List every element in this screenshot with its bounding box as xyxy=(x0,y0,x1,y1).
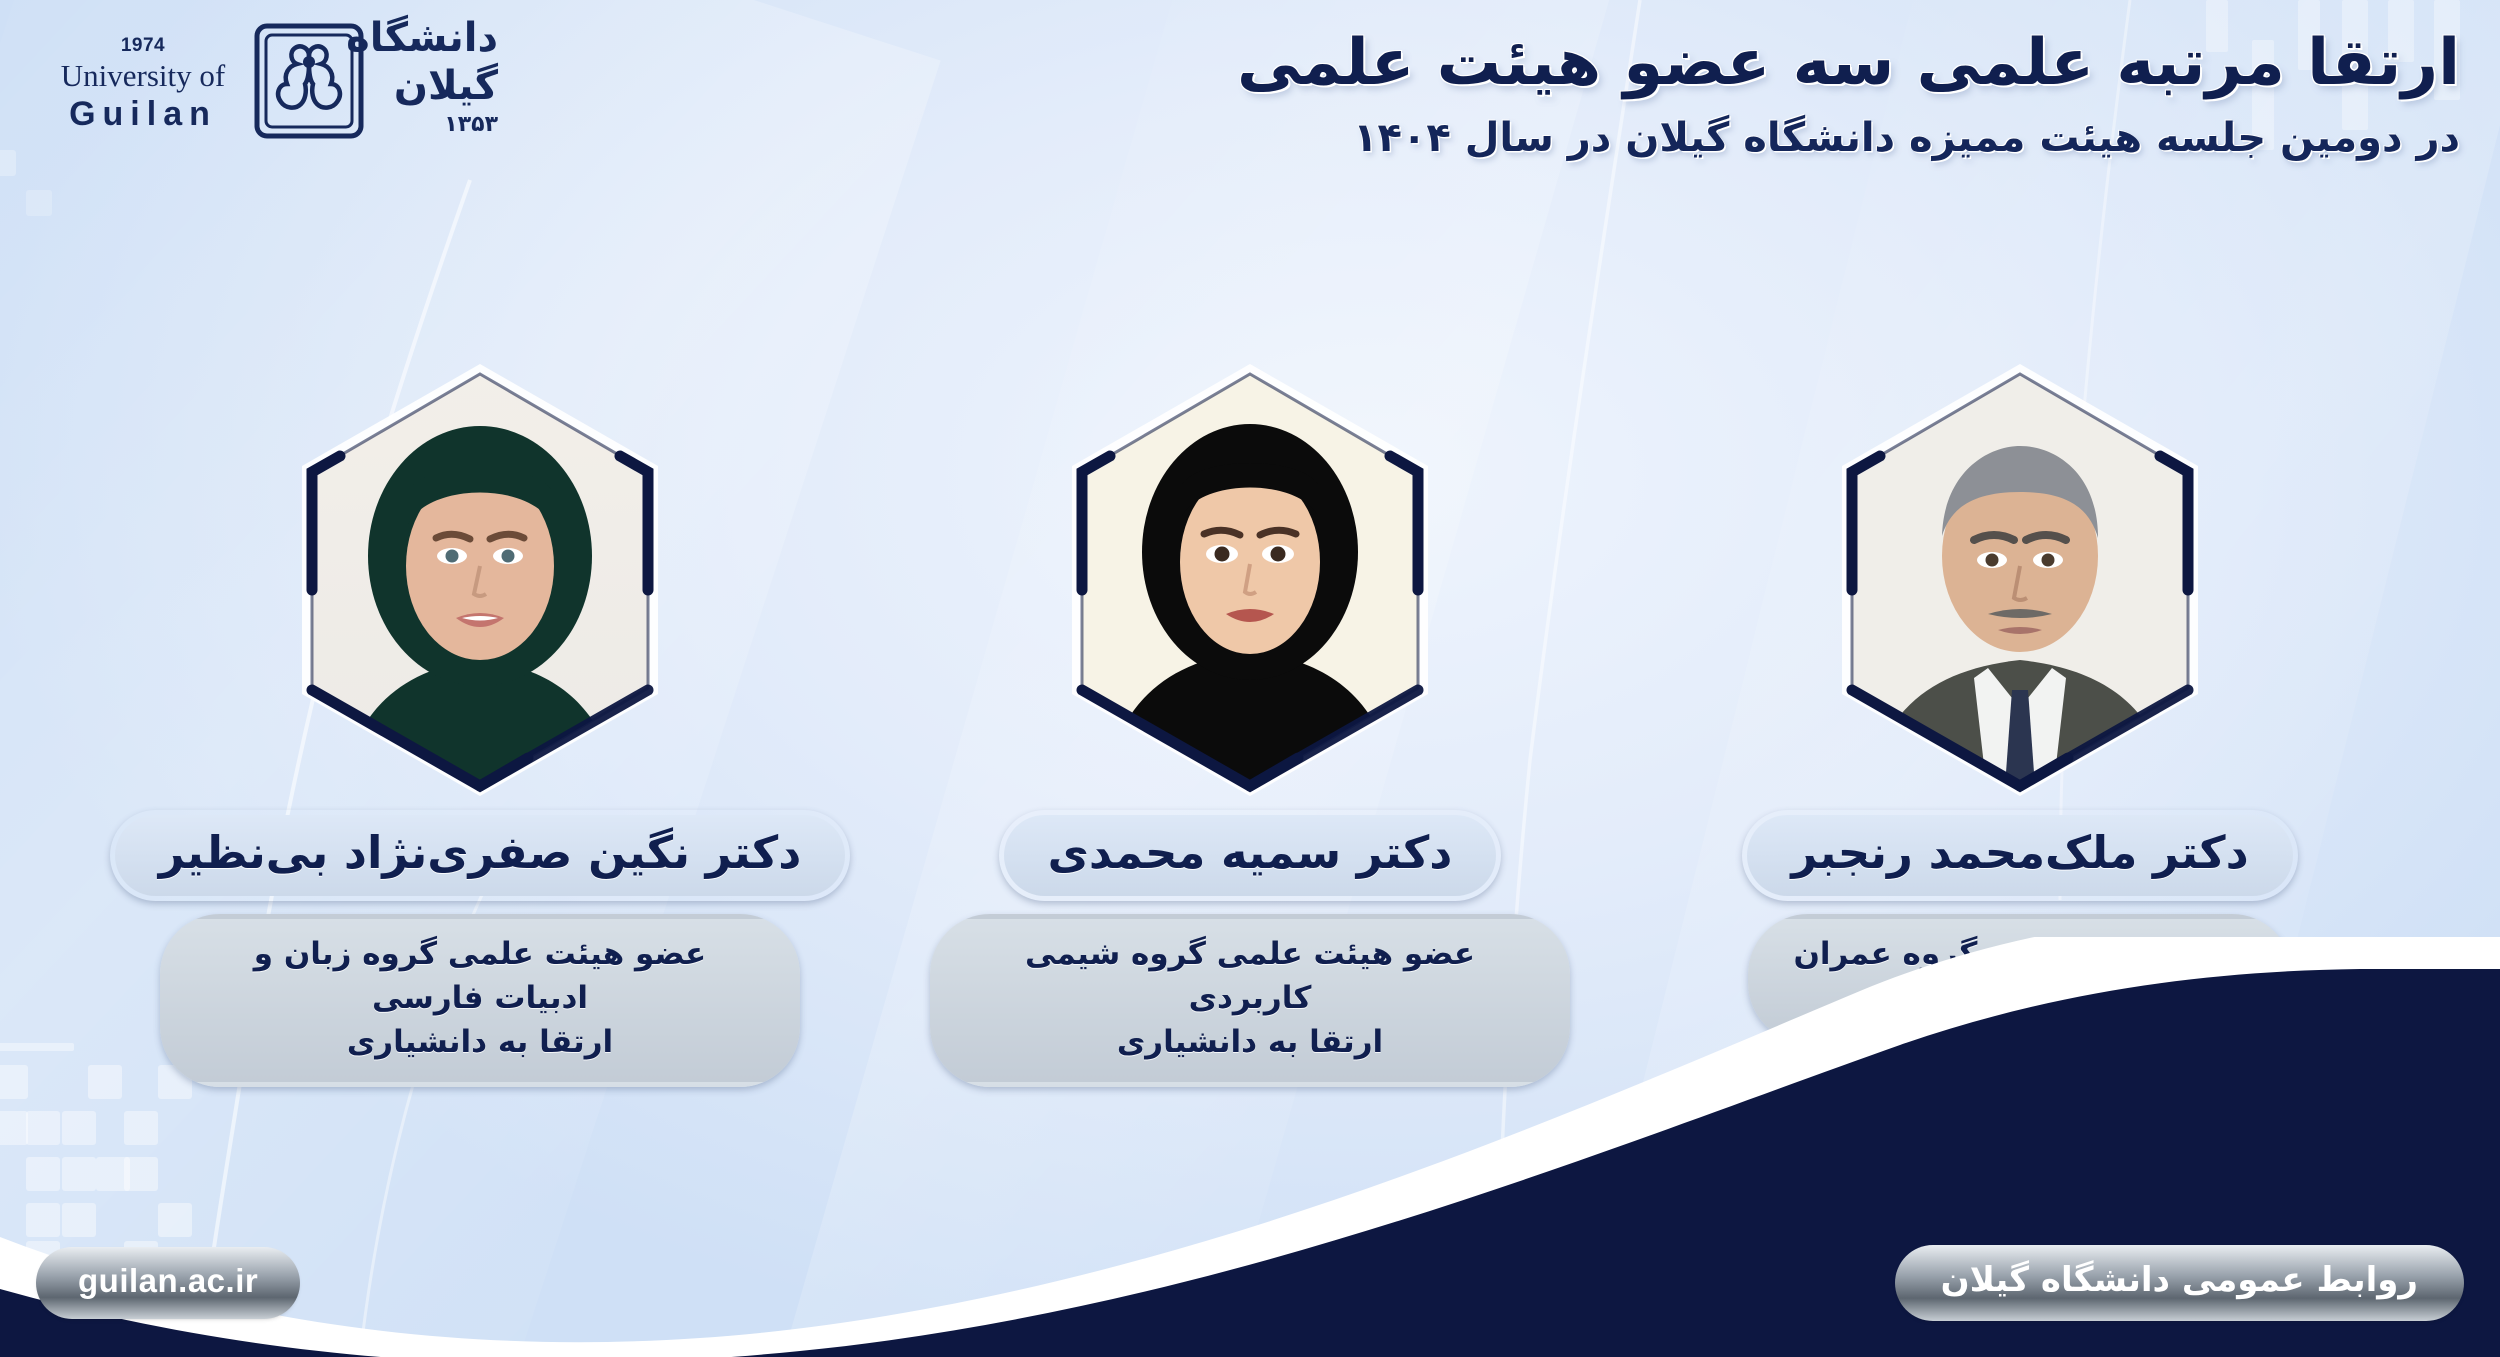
portrait-photo-3 xyxy=(1820,360,2220,800)
decorative-squares-top-left xyxy=(0,150,180,270)
logo-founding-year-persian: ۱۳۵۳ xyxy=(308,114,498,136)
person-name-badge: دکتر نگین صفری‌نژاد بی‌نظیر xyxy=(110,810,851,901)
portrait-hexagon-frame xyxy=(280,360,680,800)
website-url-text: guilan.ac.ir xyxy=(78,1262,258,1299)
logo-persian-text: دانشگاه گیلان ۱۳۵۳ xyxy=(308,14,498,136)
portrait-hexagon-frame xyxy=(1050,360,1450,800)
logo-latin-text: 1974 University of Guilan xyxy=(38,36,248,133)
website-pill[interactable]: guilan.ac.ir xyxy=(40,1251,296,1315)
public-relations-text: روابط عمومی دانشگاه گیلان xyxy=(1941,1260,2418,1300)
logo-founding-year-latin: 1974 xyxy=(38,36,248,55)
portrait-hexagon-frame xyxy=(1820,360,2220,800)
university-logo: 1974 University of Guilan دانشگاه گیلان … xyxy=(28,8,498,136)
logo-guilan-word: Guilan xyxy=(38,96,248,133)
public-relations-pill[interactable]: روابط عمومی دانشگاه گیلان xyxy=(1899,1249,2460,1317)
logo-university-word: University of xyxy=(38,58,248,94)
page-title: ارتقا مرتبه علمی سه عضو هیئت علمی xyxy=(900,24,2460,102)
portrait-photo-1 xyxy=(280,360,680,800)
person-name-badge: دکتر ملک‌محمد رنجبر xyxy=(1742,810,2297,901)
person-name-badge: دکتر سمیه محمدی xyxy=(999,810,1502,901)
portrait-photo-2 xyxy=(1050,360,1450,800)
page-subtitle: در دومین جلسه هیئت ممیزه دانشگاه گیلان د… xyxy=(900,112,2460,164)
logo-persian-name: دانشگاه گیلان xyxy=(308,14,498,110)
poster-canvas: 1974 University of Guilan دانشگاه گیلان … xyxy=(0,0,2500,1357)
headline-block: ارتقا مرتبه علمی سه عضو هیئت علمی در دوم… xyxy=(900,24,2460,164)
